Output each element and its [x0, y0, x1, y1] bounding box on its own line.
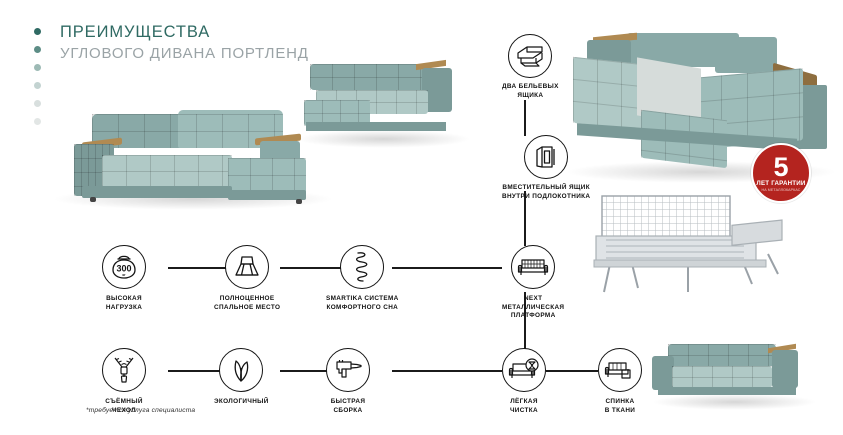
sofa-icon	[517, 256, 549, 278]
node-armrest-box[interactable]: ВМЕСТИТЕЛЬНЫЙ ЯЩИК ВНУТРИ ПОДЛОКОТНИКА	[502, 135, 590, 201]
node-label: БЫСТРАЯ СБОРКА	[331, 398, 366, 415]
node-label: SMARTIKA СИСТЕМА КОМФОРТНОГО СНА	[326, 295, 399, 312]
spring-icon	[350, 251, 374, 283]
node-easy-cleaning[interactable]: ЛЁГКАЯ ЧИСТКА	[502, 348, 546, 415]
mattress-icon	[232, 254, 262, 280]
weight-icon: 300 кг	[109, 252, 139, 282]
spring-system-circle	[340, 245, 384, 289]
node-label: ВЫСОКАЯ НАГРУЗКА	[106, 295, 142, 312]
armrest-box-icon	[533, 144, 559, 170]
connector-row1-c	[392, 267, 502, 269]
eco-circle	[219, 348, 263, 392]
two-drawers-circle	[508, 34, 552, 78]
node-two-drawers[interactable]: ДВА БЕЛЬЕВЫХ ЯЩИКА	[502, 34, 559, 100]
node-metal-platform[interactable]: NEXT МЕТАЛЛИЧЕСКАЯ ПЛАТФОРМА	[502, 245, 564, 321]
zipper-icon	[110, 355, 138, 385]
node-sleeping-place[interactable]: ПОЛНОЦЕННОЕ СПАЛЬНОЕ МЕСТО	[214, 245, 280, 312]
node-label: ЭКОЛОГИЧНЫЙ	[214, 398, 269, 407]
fabric-back-circle	[598, 348, 642, 392]
node-label: NEXT МЕТАЛЛИЧЕСКАЯ ПЛАТФОРМА	[502, 295, 564, 321]
node-label: СПИНКА В ТКАНИ	[605, 398, 635, 415]
node-label: ВМЕСТИТЕЛЬНЫЙ ЯЩИК ВНУТРИ ПОДЛОКОТНИКА	[502, 184, 590, 201]
sofa-clean-icon	[508, 358, 540, 382]
benefits-diagram: ДВА БЕЛЬЕВЫХ ЯЩИКА ВМЕСТИТЕЛЬНЫЙ ЯЩИК ВН…	[0, 0, 843, 435]
connector-row2-d	[546, 370, 598, 372]
connector-drawers-armrest	[524, 100, 526, 136]
node-eco[interactable]: ЭКОЛОГИЧНЫЙ	[214, 348, 269, 407]
node-spring-system[interactable]: SMARTIKA СИСТЕМА КОМФОРТНОГО СНА	[326, 245, 399, 312]
fast-assembly-circle	[326, 348, 370, 392]
high-load-circle: 300 кг	[102, 245, 146, 289]
node-fast-assembly[interactable]: БЫСТРАЯ СБОРКА	[326, 348, 370, 415]
easy-cleaning-circle	[502, 348, 546, 392]
metal-platform-circle	[511, 245, 555, 289]
removable-cover-circle	[102, 348, 146, 392]
two-drawers-icon	[515, 44, 545, 68]
armrest-box-circle	[524, 135, 568, 179]
sleeping-place-circle	[225, 245, 269, 289]
node-label: ДВА БЕЛЬЕВЫХ ЯЩИКА	[502, 83, 559, 100]
node-label: ПОЛНОЦЕННОЕ СПАЛЬНОЕ МЕСТО	[214, 295, 280, 312]
weight-unit: кг	[122, 273, 126, 277]
sofa-back-icon	[604, 359, 636, 381]
drill-icon	[333, 357, 363, 383]
node-label: ЛЁГКАЯ ЧИСТКА	[510, 398, 538, 415]
node-removable-cover[interactable]: СЪЁМНЫЙ ЧЕХОЛ	[102, 348, 146, 415]
leaf-icon	[228, 356, 254, 384]
weight-value: 300	[116, 264, 131, 274]
infographic-page: ПРЕИМУЩЕСТВА УГЛОВОГО ДИВАНА ПОРТЛЕНД	[0, 0, 843, 435]
node-high-load[interactable]: 300 кг ВЫСОКАЯ НАГРУЗКА	[102, 245, 146, 312]
footnote: *требуется услуга специалиста	[86, 407, 195, 414]
node-fabric-back[interactable]: СПИНКА В ТКАНИ	[598, 348, 642, 415]
connector-row2-c	[392, 370, 502, 372]
